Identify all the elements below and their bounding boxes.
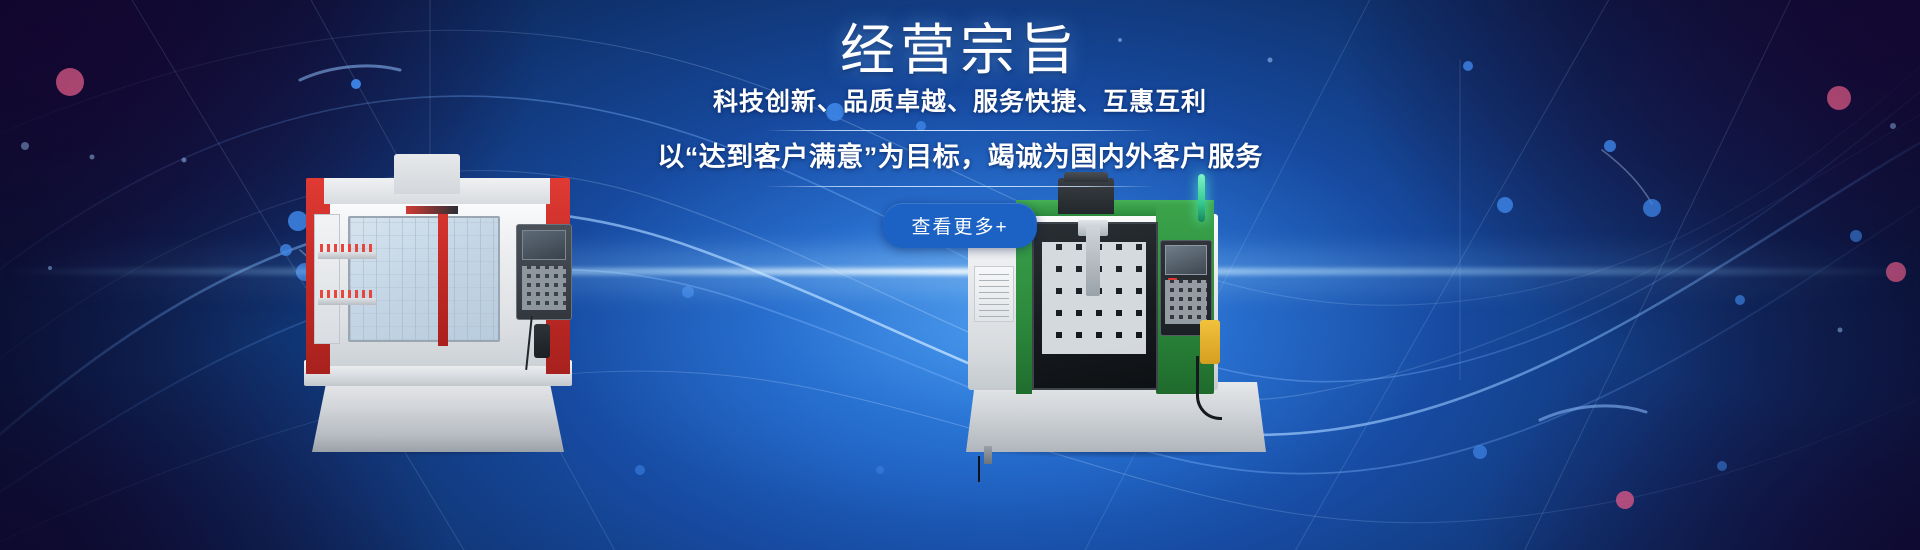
left-machine-shelf-upper (318, 252, 376, 259)
right-machine-pendant-cord (1196, 356, 1222, 420)
right-machine-spec-label (974, 266, 1014, 322)
divider-bottom (765, 186, 1155, 187)
left-machine-panel-keypad (522, 266, 566, 310)
left-machine-shelf-lower (318, 298, 376, 305)
left-machine-tool-row-lower (320, 290, 374, 298)
right-machine-panel-keypad (1165, 280, 1207, 324)
left-machine-pendant (534, 324, 550, 358)
hero-banner: 经营宗旨 科技创新、品质卓越、服务快捷、互惠互利 以“达到客户满意”为目标，竭诚… (0, 0, 1920, 550)
right-machine-panel-screen (1165, 245, 1207, 275)
left-machine-base (312, 378, 564, 452)
divider-top (765, 130, 1155, 131)
banner-subtitle: 科技创新、品质卓越、服务快捷、互惠互利 (713, 87, 1207, 118)
view-more-button[interactable]: 查看更多+ (883, 203, 1036, 248)
right-machine-floor-cable (978, 456, 980, 482)
banner-text-block: 经营宗旨 科技创新、品质卓越、服务快捷、互惠互利 以“达到客户满意”为目标，竭诚… (0, 22, 1920, 248)
banner-tagline: 以“达到客户满意”为目标，竭诚为国内外客户服务 (657, 141, 1263, 175)
banner-title: 经营宗旨 (840, 22, 1080, 79)
right-machine-foot (984, 446, 992, 464)
